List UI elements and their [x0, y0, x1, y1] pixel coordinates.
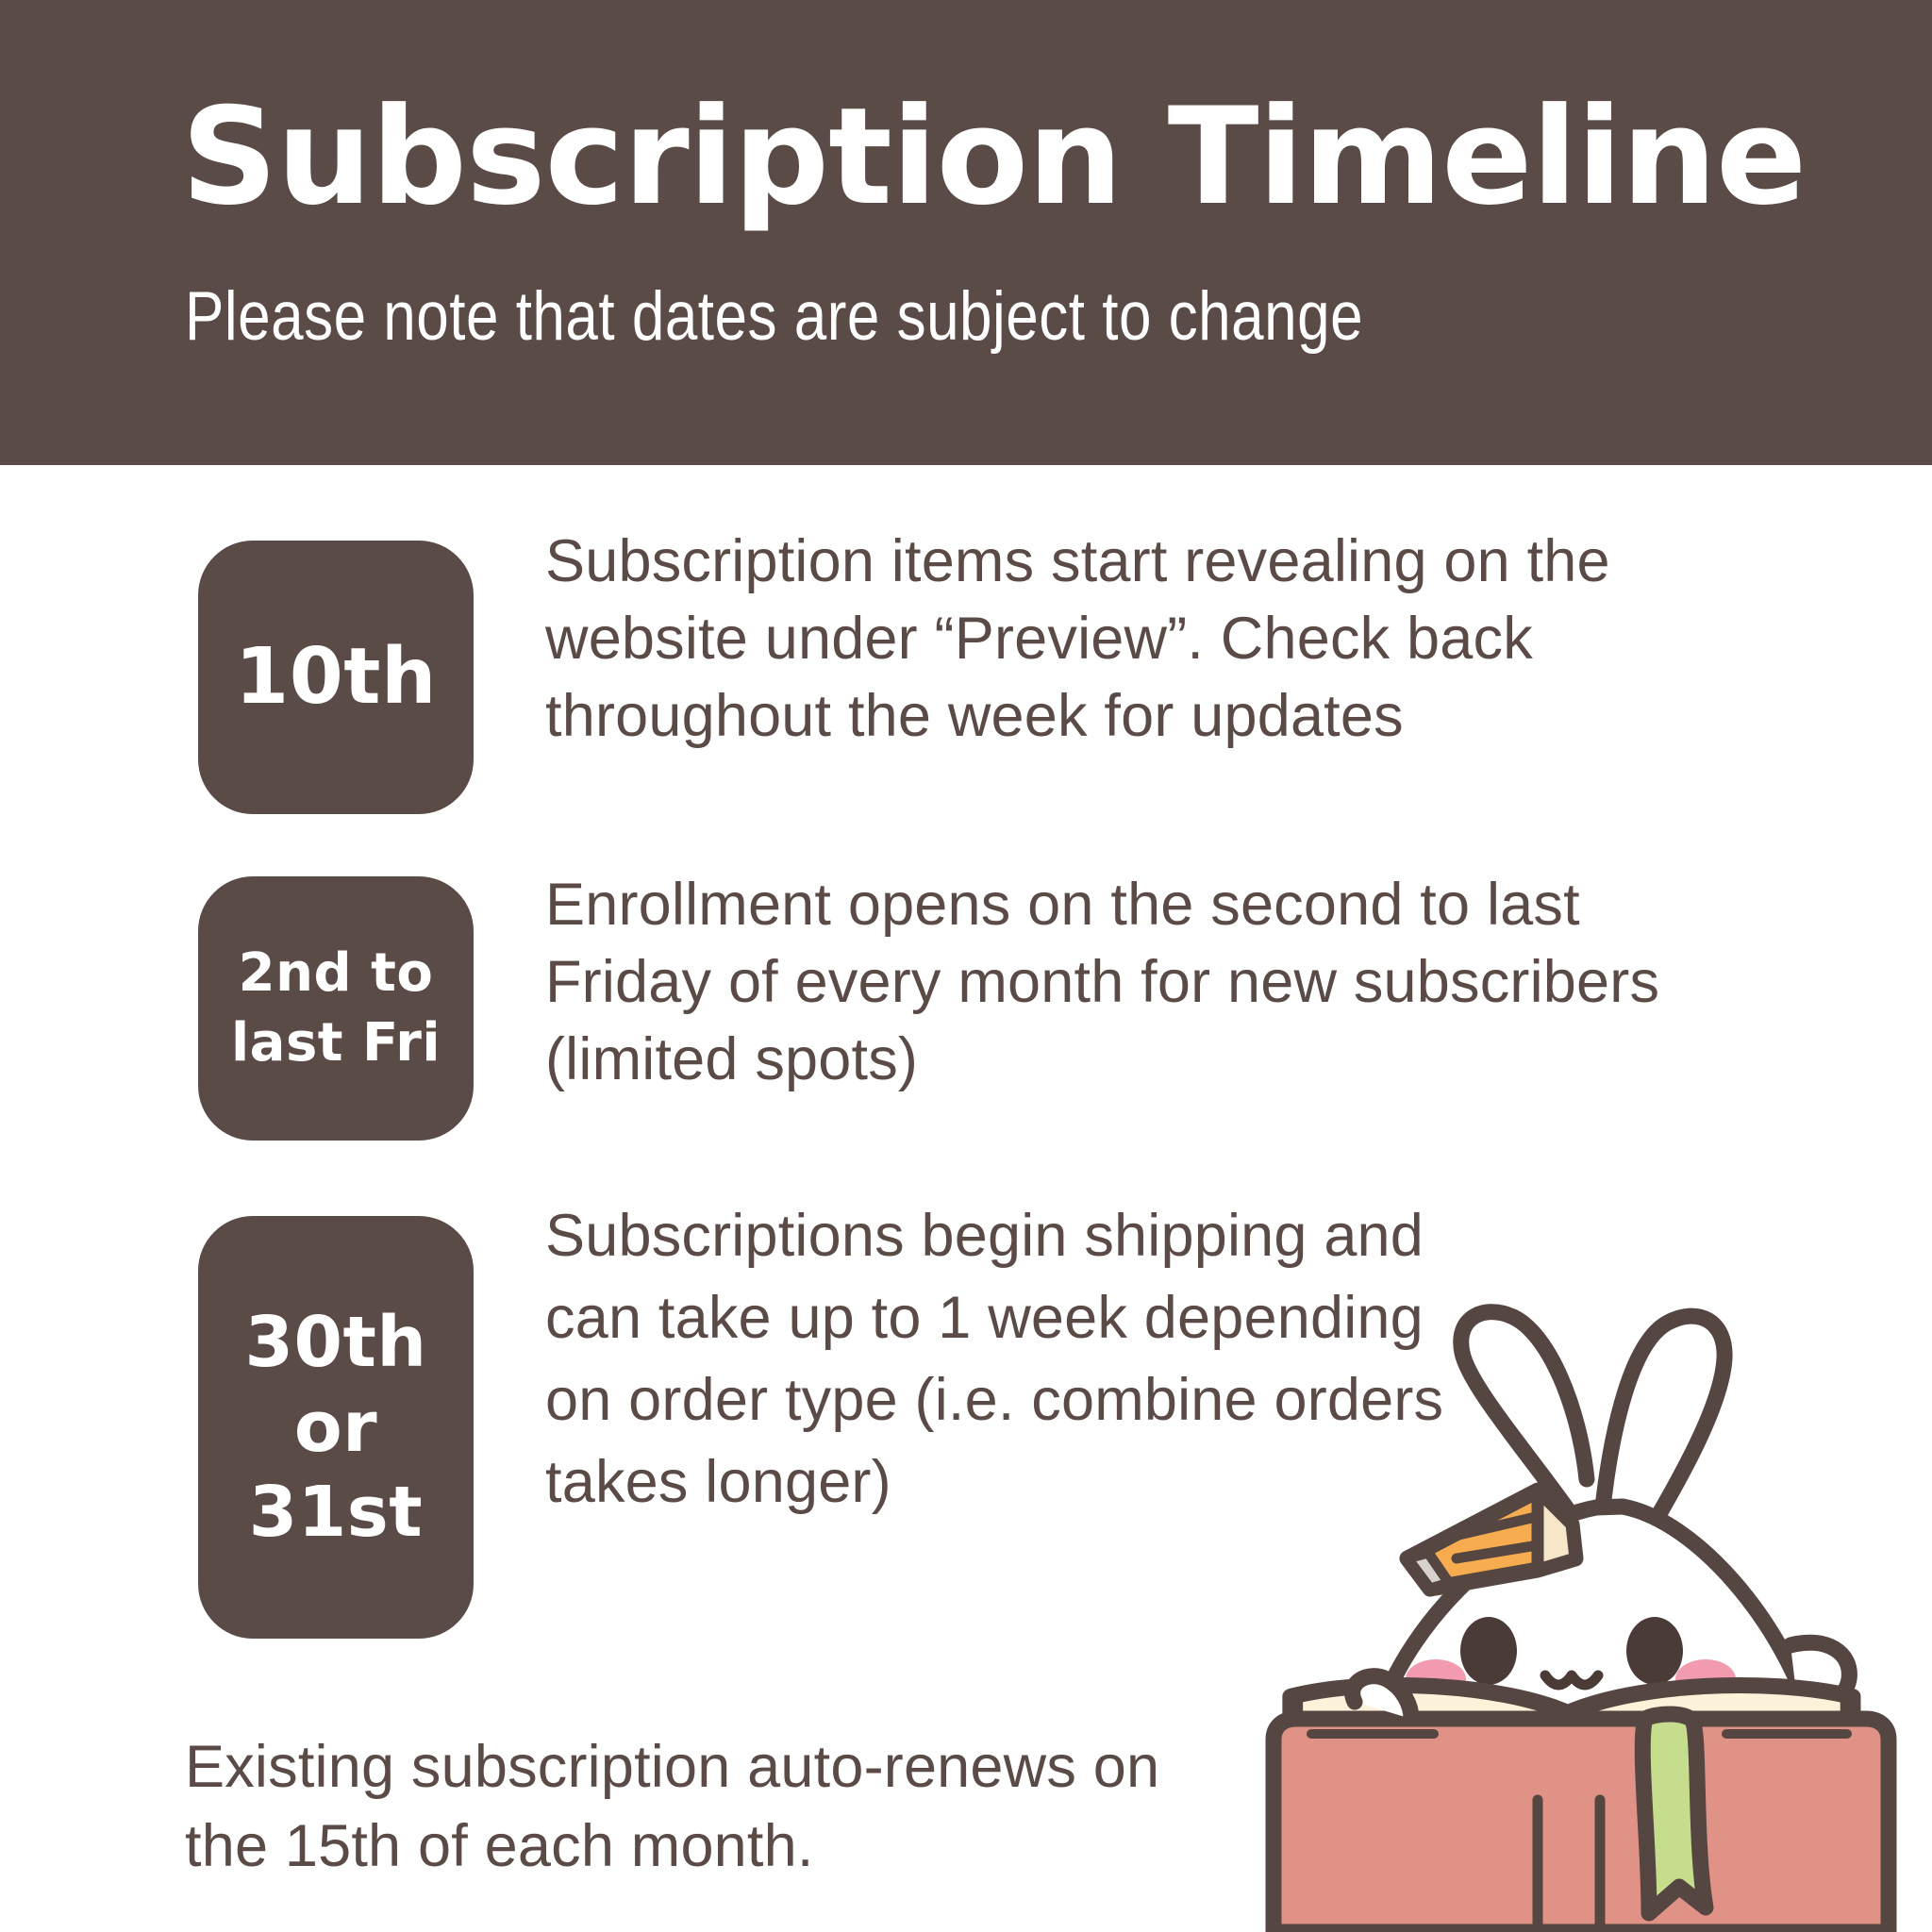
date-badge-label: 2nd to last Fri — [231, 939, 441, 1078]
pencil-icon — [1407, 1491, 1575, 1589]
date-badge-label: 30th or 31st — [244, 1300, 426, 1556]
page-title: Subscription Timeline — [181, 91, 1806, 225]
infographic-page: Subscription Timeline Please note that d… — [0, 0, 1932, 1932]
book-bookmark-icon — [1642, 1714, 1706, 1913]
timeline-row-description: Subscription items start revealing on th… — [545, 524, 1762, 756]
date-badge: 10th — [198, 541, 474, 814]
timeline-row-description: Enrollment opens on the second to last F… — [545, 867, 1762, 1099]
page-subtitle: Please note that dates are subject to ch… — [185, 283, 1363, 352]
auto-renew-note: Existing subscription auto-renews on the… — [185, 1728, 1223, 1887]
bunny-eye-right-icon — [1626, 1617, 1683, 1685]
date-badge-label: 10th — [235, 632, 437, 724]
date-badge: 2nd to last Fri — [198, 876, 474, 1141]
bunny-reading-book-illustration — [1255, 1275, 1932, 1932]
bunny-eye-left-icon — [1460, 1617, 1517, 1685]
header-banner: Subscription Timeline Please note that d… — [0, 0, 1932, 465]
open-book-icon — [1274, 1685, 1889, 1932]
date-badge: 30th or 31st — [198, 1216, 474, 1639]
